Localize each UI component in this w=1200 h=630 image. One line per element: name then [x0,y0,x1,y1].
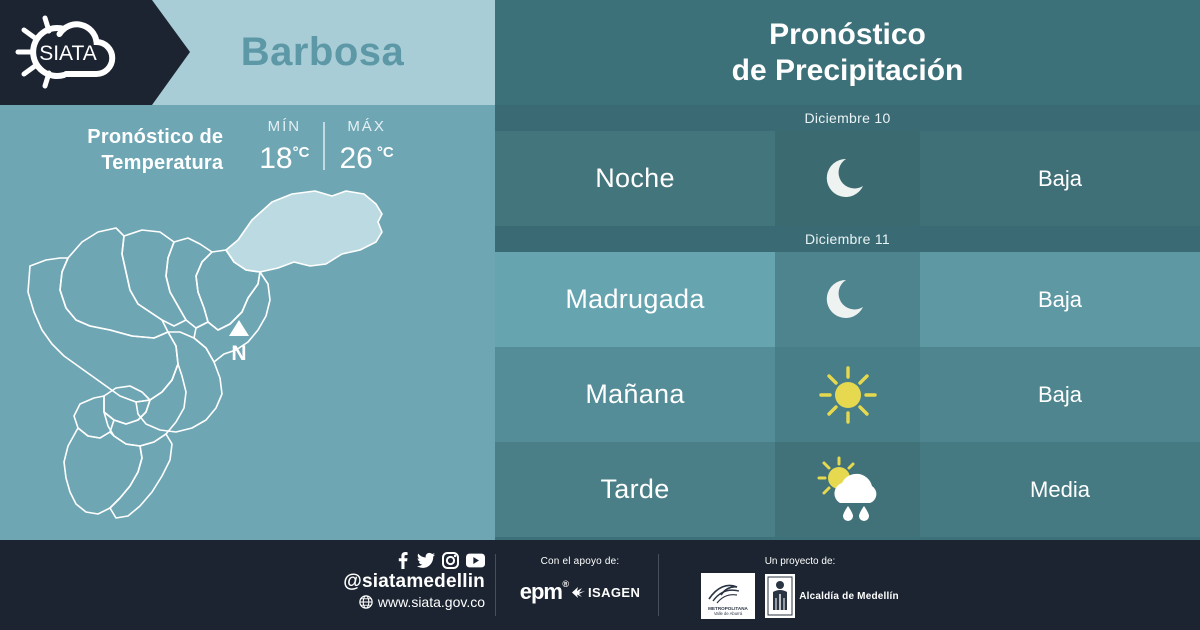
forecast-period: Mañana [495,347,775,442]
temperature-max: MÁX 26°C [325,118,407,175]
table-row: Madrugada Baja [495,252,1200,347]
precipitation-title-line2: de Precipitación [732,53,964,89]
sun-icon [775,347,920,442]
forecast-probability: Baja [920,131,1200,226]
temperature-title-line2: Temperatura [101,152,223,174]
degree-unit-min: °C [293,144,310,161]
aburra-valley-map: N [20,180,460,535]
north-arrow-icon: N [229,320,249,365]
forecast-period: Noche [495,131,775,226]
north-label: N [231,342,246,365]
twitter-icon[interactable] [417,552,435,569]
isagen-mark-icon [572,586,586,599]
date-band-1: Diciembre 10 [495,105,1200,131]
weather-forecast-card: Barbosa SIATA Pronóstico de Temperatura [0,0,1200,630]
website-link[interactable]: www.siata.gov.co [310,593,485,611]
alcaldia-label: Alcaldía de Medellín [799,591,899,602]
right-panel: Pronóstico de Precipitación Diciembre 10… [495,0,1200,540]
left-panel: Barbosa SIATA Pronóstico de Temperatura [0,0,495,540]
project-logos: METROPOLITANA Valle de Aburrá [700,573,900,619]
temperature-min-value: 18°C [259,137,309,175]
temperature-values: MÍN 18°C MÁX 26°C [245,118,407,175]
alcaldia-logo: Alcaldía de Medellín [765,574,899,618]
table-row: Mañana [495,347,1200,442]
precipitation-title: Pronóstico de Precipitación [495,0,1200,105]
alcaldia-mark-icon [765,574,795,618]
table-row: Tarde [495,442,1200,537]
moon-icon [775,252,920,347]
sun-rain-cloud-icon [775,442,920,537]
social-icons [310,552,485,569]
forecast-probability: Baja [920,347,1200,442]
moon-icon [775,131,920,226]
temperature-max-label: MÁX [339,118,393,135]
temperature-title-line1: Pronóstico de [87,126,223,148]
social-handle[interactable]: @siatamedellin [310,571,485,593]
temperature-title: Pronóstico de Temperatura [87,118,223,176]
forecast-table: Diciembre 10 Noche Baja Diciembre 11 Mad… [495,105,1200,537]
table-row: Noche Baja [495,131,1200,226]
precipitation-title-line1: Pronóstico [769,17,926,53]
project-caption: Un proyecto de: [700,556,900,567]
forecast-period: Madrugada [495,252,775,347]
area-metropolitana-logo: METROPOLITANA Valle de Aburrá [701,573,755,619]
temperature-min-label: MÍN [259,118,309,135]
temperature-min: MÍN 18°C [245,118,323,175]
map-region-barbosa [226,191,382,272]
temperature-max-value: 26°C [339,137,393,175]
amva-line2: Valle de Aburrá [714,611,743,616]
instagram-icon[interactable] [442,552,459,569]
social-block: @siatamedellin www.siata.gov.co [310,552,485,611]
footer-divider-2 [658,554,659,616]
globe-icon [359,595,373,609]
support-block: Con el apoyo de: epm® ISAGEN [505,556,655,605]
forecast-probability: Media [920,442,1200,537]
sun-cloud-icon: SIATA [14,12,126,92]
degree-unit-max: °C [377,144,394,161]
svg-text:SIATA: SIATA [39,42,97,65]
isagen-logo: ISAGEN [572,585,640,600]
facebook-icon[interactable] [395,552,410,569]
forecast-period: Tarde [495,442,775,537]
project-block: Un proyecto de: METROPOLITANA Valle de A… [700,556,900,619]
footer-divider-1 [495,554,496,616]
support-caption: Con el apoyo de: [505,556,655,567]
website-text: www.siata.gov.co [378,593,485,611]
epm-logo: epm® [520,579,562,605]
forecast-probability: Baja [920,252,1200,347]
siata-logo-badge: SIATA [0,0,190,105]
support-logos: epm® ISAGEN [505,579,655,605]
footer: @siatamedellin www.siata.gov.co Con el a… [0,540,1200,630]
youtube-icon[interactable] [466,552,485,569]
date-band-2: Diciembre 11 [495,226,1200,252]
